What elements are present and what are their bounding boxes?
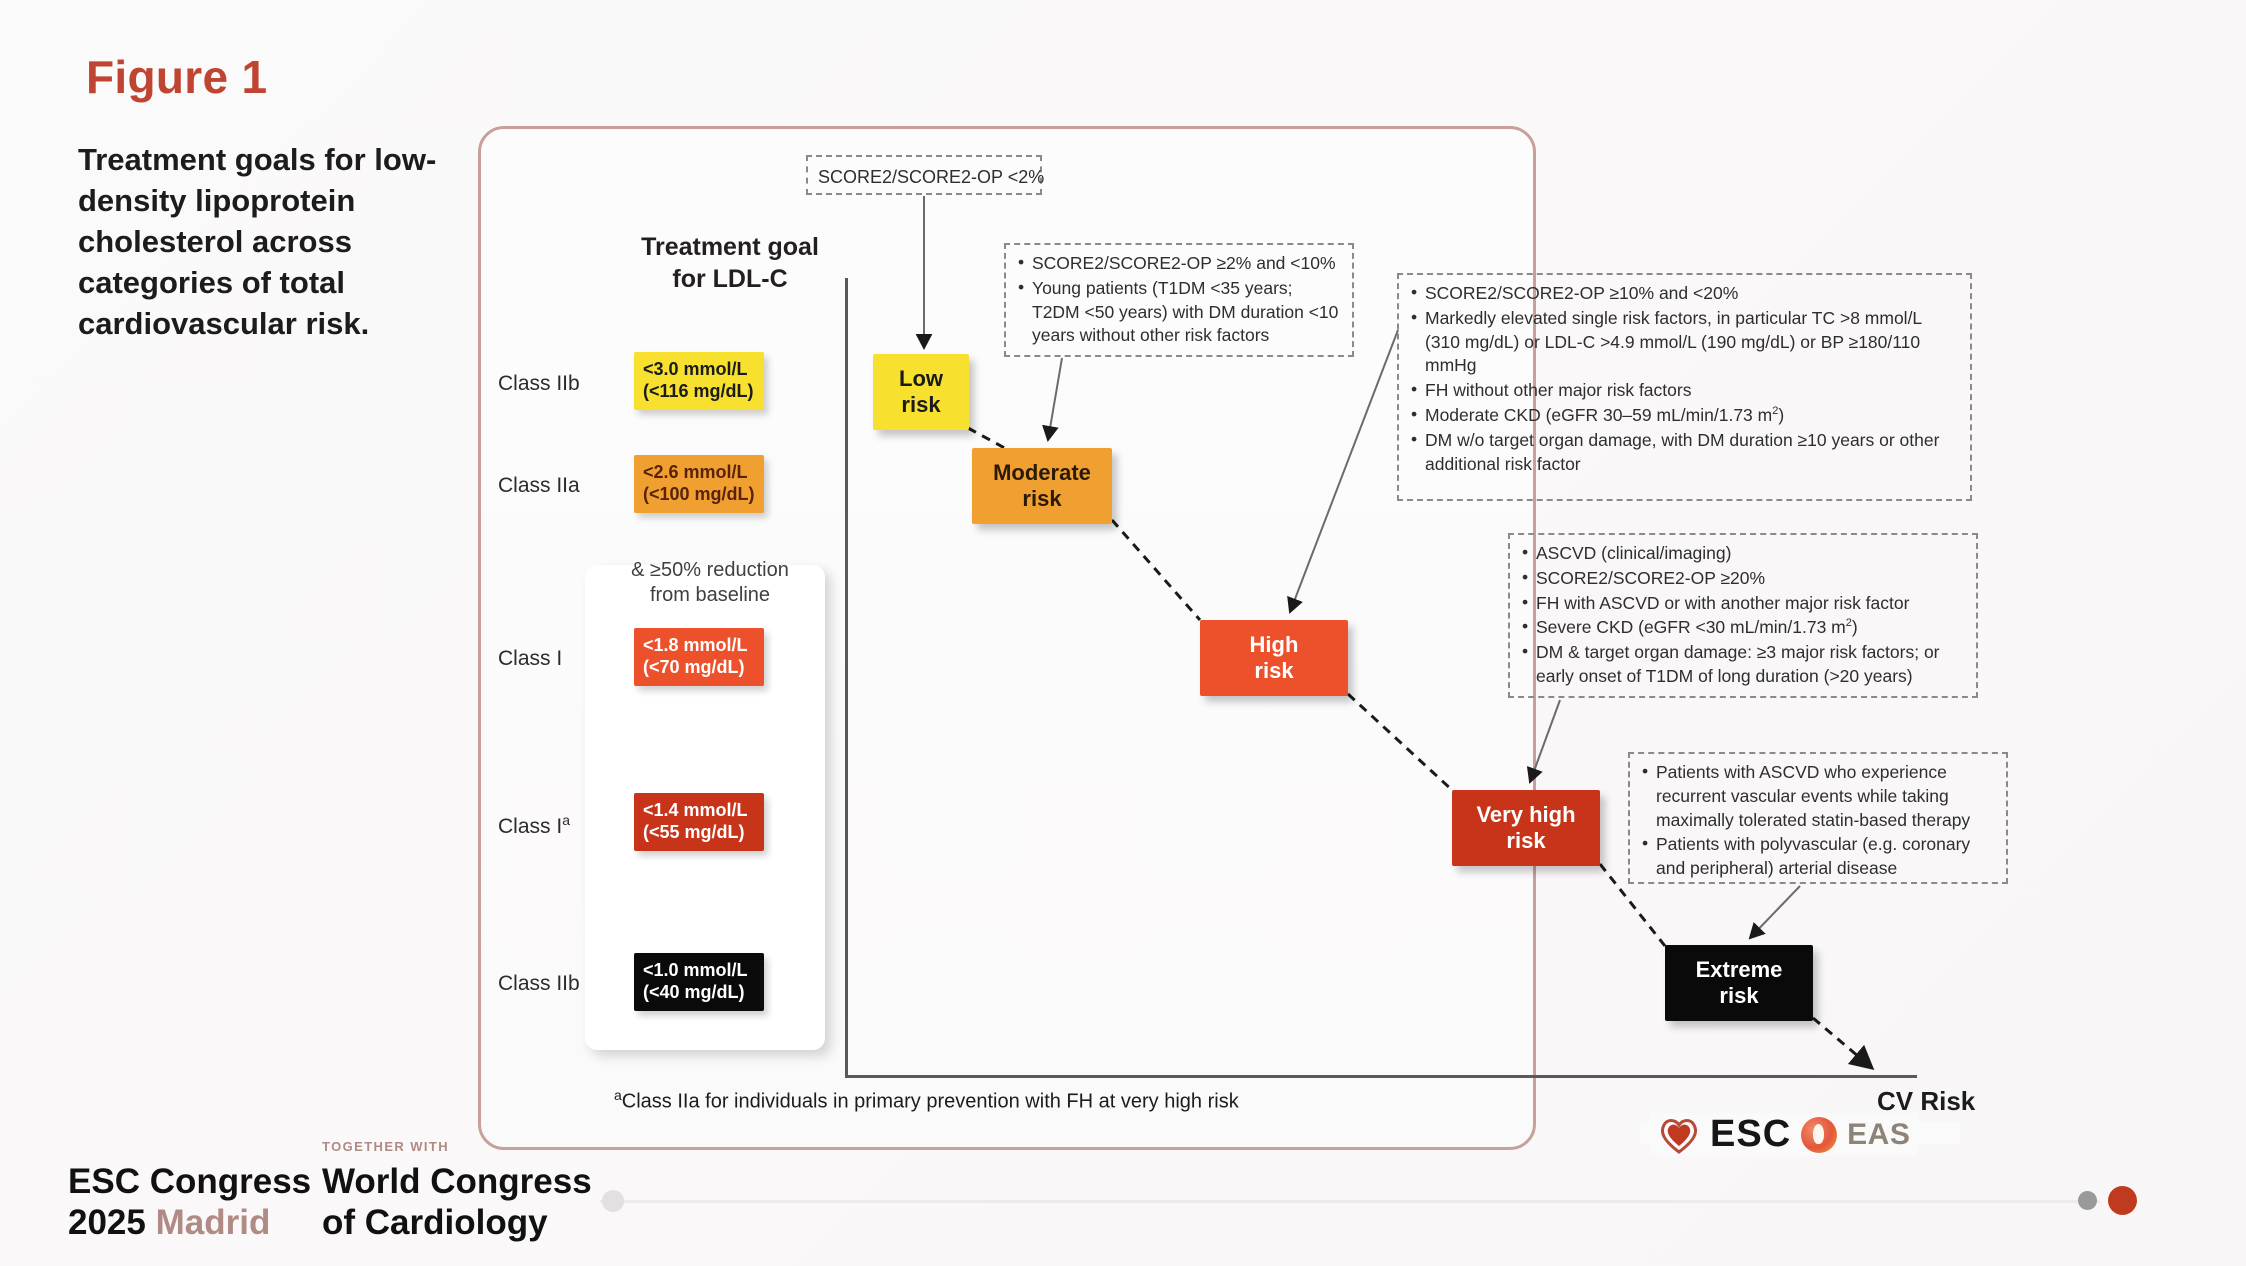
risk-box-line1: Low [873,366,969,392]
criteria-item: Patients with ASCVD who experience recur… [1656,761,1996,832]
progress-dot-inactive[interactable] [2078,1191,2097,1210]
risk-box-line1: Very high [1452,802,1600,828]
risk-box-line1: Extreme [1665,957,1813,983]
class-label-text: Class IIb [498,972,580,995]
eas-wordmark: EAS [1847,1118,1910,1152]
criteria-box-high: SCORE2/SCORE2-OP ≥10% and <20% Markedly … [1397,273,1972,501]
risk-box-line2: risk [1665,983,1813,1009]
risk-box-moderate: Moderate risk [972,448,1112,524]
class-label-text: Class I [498,647,562,670]
brand-esc-line1: ESC Congress [68,1162,311,1203]
risk-box-line1: Moderate [972,460,1112,486]
progress-dot-start[interactable] [602,1190,624,1212]
criteria-item: ASCVD (clinical/imaging) [1536,542,1966,566]
brand-city: Madrid [156,1203,271,1242]
risk-box-line2: risk [1200,658,1348,684]
risk-box-line2: risk [873,392,969,418]
criteria-box-low: SCORE2/SCORE2-OP <2% [806,155,1042,195]
goal-mgdl: (<116 mg/dL) [643,381,755,403]
criteria-item: SCORE2/SCORE2-OP ≥2% and <10% [1032,252,1342,276]
criteria-item: FH without other major risk factors [1425,379,1960,403]
class-label-row-4: Class IIb [498,972,580,996]
risk-box-very-high: Very high risk [1452,790,1600,866]
criteria-item: SCORE2/SCORE2-OP ≥10% and <20% [1425,282,1960,306]
goal-mgdl: (<55 mg/dL) [643,822,755,844]
progress-dot-active[interactable] [2108,1186,2137,1215]
esc-heart-icon [1658,1116,1700,1154]
goal-card-row-1: <2.6 mmol/L (<100 mg/dL) [634,455,764,513]
class-label-superscript: a [562,812,570,828]
reduction-note-line2: from baseline [650,584,770,606]
goal-mgdl: (<40 mg/dL) [643,982,755,1004]
risk-box-line2: risk [972,486,1112,512]
axis-vertical [845,278,848,1078]
goal-mmol: <3.0 mmol/L [643,359,755,381]
figure-caption: Treatment goals for low-density lipoprot… [78,140,458,345]
brand-esc-line2: 2025 Madrid [68,1203,311,1244]
panel-logo-lockup: ESC EAS [1650,1113,1918,1156]
eas-logo-icon [1801,1117,1837,1153]
brand-esc-congress: ESC Congress 2025 Madrid [68,1162,311,1243]
criteria-item: DM & target organ damage: ≥3 major risk … [1536,641,1966,689]
goal-heading-line1: Treatment goal [641,233,819,261]
goal-mmol: <1.4 mmol/L [643,800,755,822]
footnote-marker: a [614,1087,622,1103]
criteria-low-text: SCORE2/SCORE2-OP <2% [818,165,1030,189]
goal-mmol: <1.8 mmol/L [643,635,755,657]
goal-mgdl: (<70 mg/dL) [643,657,755,679]
figure-label: Figure 1 [86,50,267,104]
risk-box-low: Low risk [873,354,969,430]
criteria-item: FH with ASCVD or with another major risk… [1536,592,1966,616]
criteria-item: Young patients (T1DM <35 years; T2DM <50… [1032,277,1342,348]
reduction-note: & ≥50% reduction from baseline [600,558,820,608]
goal-card-row-0: <3.0 mmol/L (<116 mg/dL) [634,352,764,410]
brand-together-with: TOGETHER WITH [322,1139,449,1154]
goal-mmol: <1.0 mmol/L [643,960,755,982]
brand-wcc-line1: World Congress [322,1162,592,1203]
goal-card-row-2: <1.8 mmol/L (<70 mg/dL) [634,628,764,686]
criteria-box-very-high: ASCVD (clinical/imaging) SCORE2/SCORE2-O… [1508,533,1978,698]
brand-wcc-line2: of Cardiology [322,1203,592,1244]
progress-track[interactable] [600,1200,2100,1203]
criteria-item: SCORE2/SCORE2-OP ≥20% [1536,567,1966,591]
goal-column-heading: Treatment goal for LDL-C [610,232,850,295]
risk-box-line1: High [1200,632,1348,658]
criteria-item: Severe CKD (eGFR <30 mL/min/1.73 m2) [1536,616,1966,640]
goal-card-row-3: <1.4 mmol/L (<55 mg/dL) [634,793,764,851]
class-label-text: Class I [498,815,562,838]
class-label-text: Class IIb [498,372,580,395]
risk-box-high: High risk [1200,620,1348,696]
criteria-item: DM w/o target organ damage, with DM dura… [1425,429,1960,477]
class-label-row-2: Class I [498,647,562,671]
axis-horizontal [845,1075,1917,1078]
esc-wordmark: ESC [1710,1113,1791,1156]
figure-footnote: aClass IIa for individuals in primary pr… [614,1087,1239,1114]
class-label-text: Class IIa [498,474,580,497]
goal-mgdl: (<100 mg/dL) [643,484,755,506]
risk-box-extreme: Extreme risk [1665,945,1813,1021]
footnote-text: Class IIa for individuals in primary pre… [622,1091,1239,1113]
class-label-row-1: Class IIa [498,474,580,498]
class-label-row-3: Class Ia [498,812,570,839]
class-label-row-0: Class IIb [498,372,580,396]
criteria-item: Markedly elevated single risk factors, i… [1425,307,1960,378]
criteria-item: Patients with polyvascular (e.g. coronar… [1656,833,1996,881]
goal-card-row-4: <1.0 mmol/L (<40 mg/dL) [634,953,764,1011]
goal-heading-line2: for LDL-C [672,265,787,293]
criteria-item: Moderate CKD (eGFR 30–59 mL/min/1.73 m2) [1425,404,1960,428]
goal-mmol: <2.6 mmol/L [643,462,755,484]
criteria-box-extreme: Patients with ASCVD who experience recur… [1628,752,2008,884]
reduction-note-line1: & ≥50% reduction [631,559,789,581]
risk-box-line2: risk [1452,828,1600,854]
criteria-box-moderate: SCORE2/SCORE2-OP ≥2% and <10% Young pati… [1004,243,1354,357]
brand-world-congress: World Congress of Cardiology [322,1162,592,1243]
brand-year: 2025 [68,1203,146,1242]
